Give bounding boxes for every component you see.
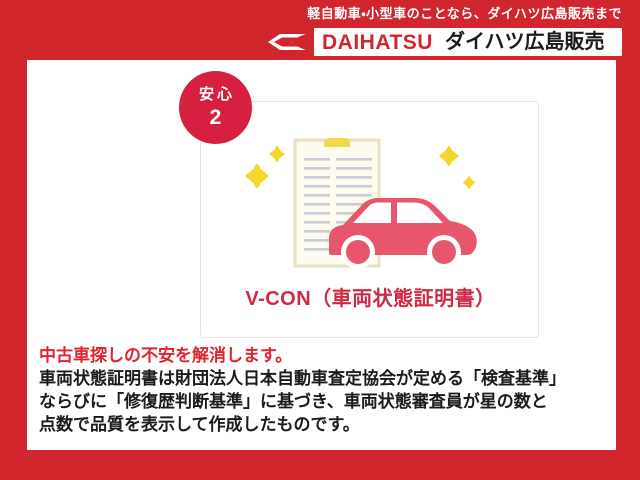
header-bar: 軽自動車・小型車のことなら、ダイハツ広島販売まで DAIHATSU ダイハツ広島…: [0, 0, 640, 60]
dealer-name: ダイハツ広島販売: [445, 32, 605, 52]
brand-row: DAIHATSU ダイハツ広島販売: [262, 28, 622, 56]
page-root: 軽自動車・小型車のことなら、ダイハツ広島販売まで DAIHATSU ダイハツ広島…: [0, 0, 640, 480]
description-line-3: 点数で品質を表示して作成したものです。: [39, 413, 609, 436]
daihatsu-wordmark: DAIHATSU: [322, 32, 433, 53]
daihatsu-d-emblem-icon: [262, 28, 314, 56]
anshin-badge-number: 2: [210, 107, 222, 128]
vcon-caption: V-CON（車両状態証明書）: [201, 282, 540, 311]
header-tagline: 軽自動車・小型車のことなら、ダイハツ広島販売まで: [307, 5, 622, 23]
anshin-badge: 安心 2: [179, 71, 252, 144]
anshin-badge-label: 安心: [196, 87, 235, 102]
sparkle-icon: [269, 146, 285, 162]
vcon-illustration-svg: [201, 102, 540, 280]
illustration-card: V-CON（車両状態証明書）: [200, 101, 539, 338]
description-line-1: 車両状態証明書は財団法人日本自動車査定協会が定める「検査基準」: [39, 367, 609, 390]
content-card: 安心 2: [27, 60, 616, 450]
description-block: 中古車探しの不安を解消します。 車両状態証明書は財団法人日本自動車査定協会が定め…: [39, 344, 609, 436]
sparkle-icon: [439, 146, 459, 166]
sparkle-icon: [245, 164, 269, 188]
illustration-stage: [201, 102, 540, 280]
description-headline: 中古車探しの不安を解消します。: [39, 344, 609, 367]
sparkle-icon: [463, 176, 476, 189]
description-line-2: ならびに「修復歴判断基準」に基づき、車両状態審査員が星の数と: [39, 390, 609, 413]
